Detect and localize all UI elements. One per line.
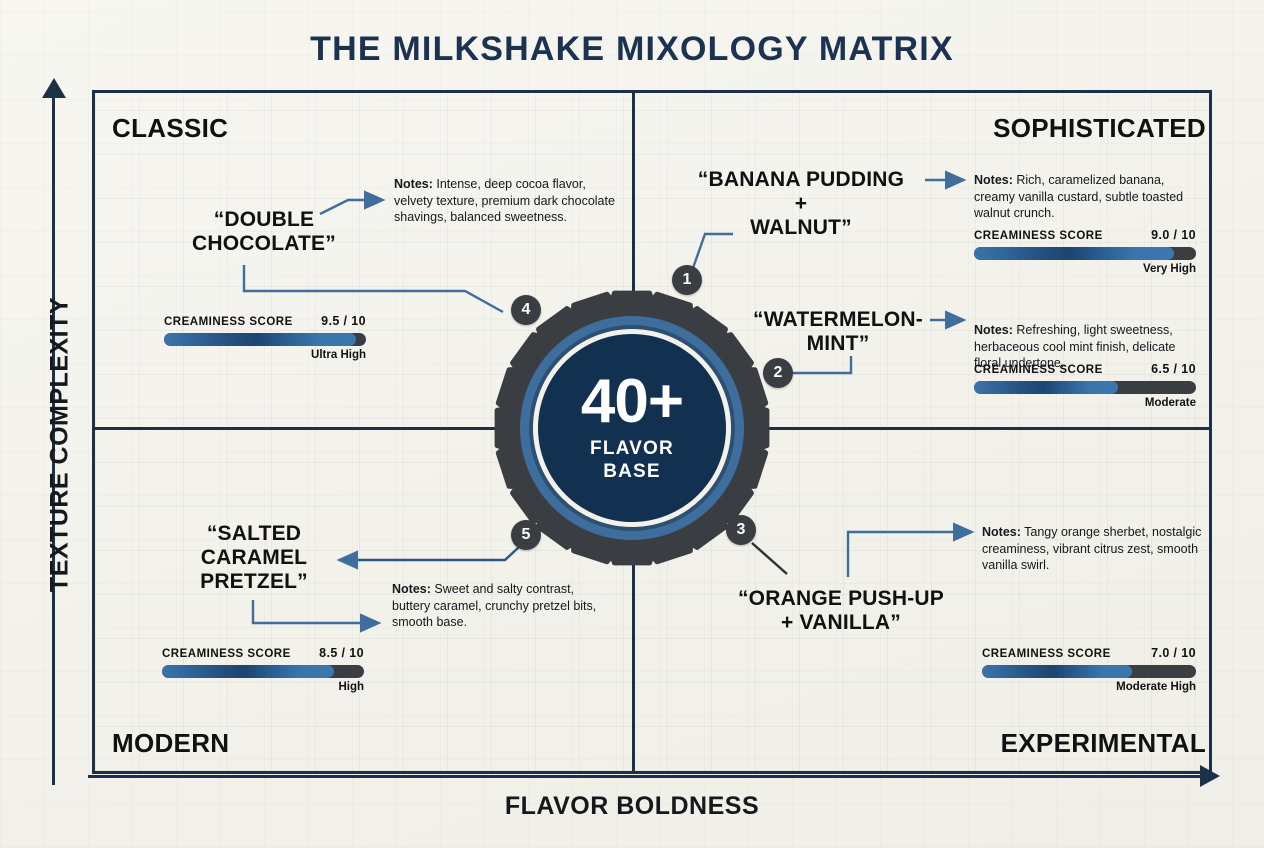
flavor-name-line: + VANILLA” (718, 611, 964, 635)
notes-double-chocolate: Notes: Intense, deep cocoa flavor, velve… (394, 176, 622, 226)
score-bar-track (982, 665, 1196, 678)
score-bar-track (974, 381, 1196, 394)
y-axis-arrow-icon (42, 78, 66, 98)
notes-prefix: Notes: (974, 323, 1013, 337)
callout-marker-1[interactable]: 1 (672, 265, 702, 295)
score-label: CREAMINESS SCORE (974, 364, 1103, 376)
y-axis-label: TEXTURE COMPLEXITY (46, 235, 75, 655)
score-value: 9.0 / 10 (1151, 228, 1196, 242)
flavor-name-line: “BANANA PUDDING (675, 168, 927, 192)
score-label: CREAMINESS SCORE (164, 316, 293, 328)
score-double-chocolate: CREAMINESS SCORE 9.5 / 10 Ultra High (164, 314, 366, 361)
flavor-name-line: CARAMEL (176, 546, 332, 570)
score-bar-fill (974, 247, 1174, 260)
flavor-name-line: + (675, 192, 927, 216)
score-label: CREAMINESS SCORE (162, 648, 291, 660)
score-value: 6.5 / 10 (1151, 362, 1196, 376)
flavor-name-line: “SALTED (176, 522, 332, 546)
score-tier: Ultra High (164, 349, 366, 361)
score-label: CREAMINESS SCORE (982, 648, 1111, 660)
notes-prefix: Notes: (974, 173, 1013, 187)
score-tier: Moderate (974, 397, 1196, 409)
score-value: 8.5 / 10 (319, 646, 364, 660)
score-bar-fill (164, 333, 356, 346)
score-label: CREAMINESS SCORE (974, 230, 1103, 242)
callout-marker-4[interactable]: 4 (511, 295, 541, 325)
notes-banana-pudding-walnut: Notes: Rich, caramelized banana, creamy … (974, 172, 1202, 222)
score-bar-track (974, 247, 1196, 260)
flavor-name-banana-pudding-walnut: “BANANA PUDDING + WALNUT” (675, 168, 927, 240)
flavor-name-line: “DOUBLE (184, 208, 344, 232)
quadrant-label-experimental: EXPERIMENTAL (52, 728, 1264, 759)
notes-prefix: Notes: (394, 177, 433, 191)
flavor-name-line: WALNUT” (675, 216, 927, 240)
score-bar-fill (982, 665, 1132, 678)
score-bar-track (162, 665, 364, 678)
flavor-name-line: CHOCOLATE” (184, 232, 344, 256)
score-salted-caramel-pretzel: CREAMINESS SCORE 8.5 / 10 High (162, 646, 364, 693)
x-axis-label: FLAVOR BOLDNESS (0, 792, 1264, 821)
score-tier: Moderate High (982, 681, 1196, 693)
callout-marker-2[interactable]: 2 (763, 358, 793, 388)
score-value: 7.0 / 10 (1151, 646, 1196, 660)
flavor-name-line: PRETZEL” (176, 570, 332, 594)
quadrant-label-sophisticated: SOPHISTICATED (52, 113, 1264, 144)
score-tier: High (162, 681, 364, 693)
score-watermelon-mint: CREAMINESS SCORE 6.5 / 10 Moderate (974, 362, 1196, 409)
score-value: 9.5 / 10 (321, 314, 366, 328)
flavor-name-salted-caramel-pretzel: “SALTED CARAMEL PRETZEL” (176, 522, 332, 594)
score-bar-fill (162, 665, 334, 678)
page-title: THE MILKSHAKE MIXOLOGY MATRIX (0, 30, 1264, 69)
callout-marker-3[interactable]: 3 (726, 515, 756, 545)
flavor-name-line: “ORANGE PUSH-UP (718, 587, 964, 611)
notes-salted-caramel-pretzel: Notes: Sweet and salty contrast, buttery… (392, 581, 608, 631)
notes-orange-pushup-vanilla: Notes: Tangy orange sherbet, nostalgic c… (982, 524, 1204, 574)
score-bar-track (164, 333, 366, 346)
score-bar-fill (974, 381, 1118, 394)
notes-prefix: Notes: (982, 525, 1021, 539)
flavor-name-double-chocolate: “DOUBLE CHOCOLATE” (184, 208, 344, 256)
score-tier: Very High (974, 263, 1196, 275)
score-banana-pudding-walnut: CREAMINESS SCORE 9.0 / 10 Very High (974, 228, 1196, 275)
score-orange-pushup-vanilla: CREAMINESS SCORE 7.0 / 10 Moderate High (982, 646, 1196, 693)
callout-marker-5[interactable]: 5 (511, 520, 541, 550)
notes-prefix: Notes: (392, 582, 431, 596)
x-axis-line (88, 775, 1206, 778)
flavor-name-orange-pushup-vanilla: “ORANGE PUSH-UP + VANILLA” (718, 587, 964, 635)
